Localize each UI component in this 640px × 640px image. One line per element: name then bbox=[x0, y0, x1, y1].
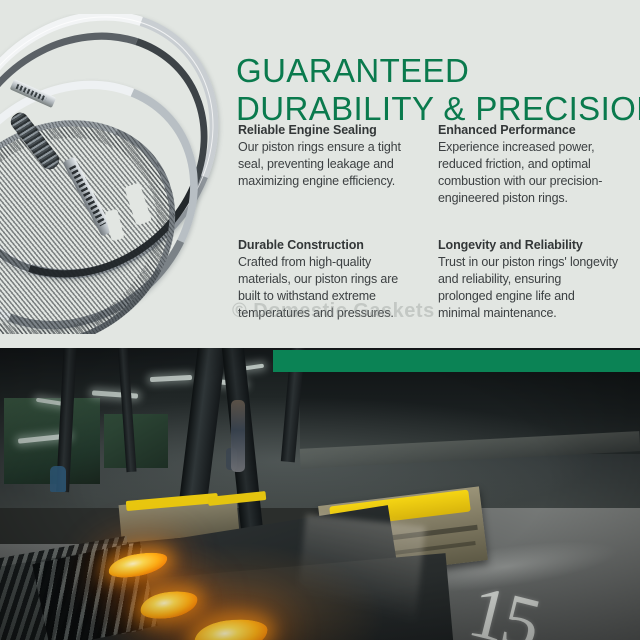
top-section: GUARANTEED DURABILITY & PRECISION Reliab… bbox=[0, 0, 640, 348]
feature-enhanced-performance: Enhanced Performance Experience increase… bbox=[438, 122, 618, 207]
headline: GUARANTEED DURABILITY & PRECISION bbox=[236, 52, 636, 128]
worker-silhouette bbox=[231, 400, 245, 472]
feature-body: Experience increased power, reduced fric… bbox=[438, 139, 618, 207]
feature-title: Longevity and Reliability bbox=[438, 237, 618, 253]
green-accent-band bbox=[273, 350, 640, 372]
feature-reliable-engine-sealing: Reliable Engine Sealing Our piston rings… bbox=[238, 122, 418, 207]
feature-longevity-and-reliability: Longevity and Reliability Trust in our p… bbox=[438, 237, 618, 322]
headline-line-1: GUARANTEED bbox=[236, 52, 636, 90]
steam-plume bbox=[295, 514, 426, 636]
feature-body: Crafted from high-quality materials, our… bbox=[238, 254, 418, 322]
foundry-photo: 15 bbox=[0, 348, 640, 640]
feature-body: Trust in our piston rings' longevity and… bbox=[438, 254, 618, 322]
feature-title: Reliable Engine Sealing bbox=[238, 122, 418, 138]
worker-silhouette bbox=[50, 466, 66, 492]
piston-rings-product-image bbox=[0, 14, 242, 334]
feature-title: Durable Construction bbox=[238, 237, 418, 253]
feature-body: Our piston rings ensure a tight seal, pr… bbox=[238, 139, 418, 190]
feature-durable-construction: Durable Construction Crafted from high-q… bbox=[238, 237, 418, 322]
feature-grid: Reliable Engine Sealing Our piston rings… bbox=[238, 122, 636, 322]
product-banner: GUARANTEED DURABILITY & PRECISION Reliab… bbox=[0, 0, 640, 640]
feature-title: Enhanced Performance bbox=[438, 122, 618, 138]
green-machinery-mid bbox=[104, 414, 168, 468]
